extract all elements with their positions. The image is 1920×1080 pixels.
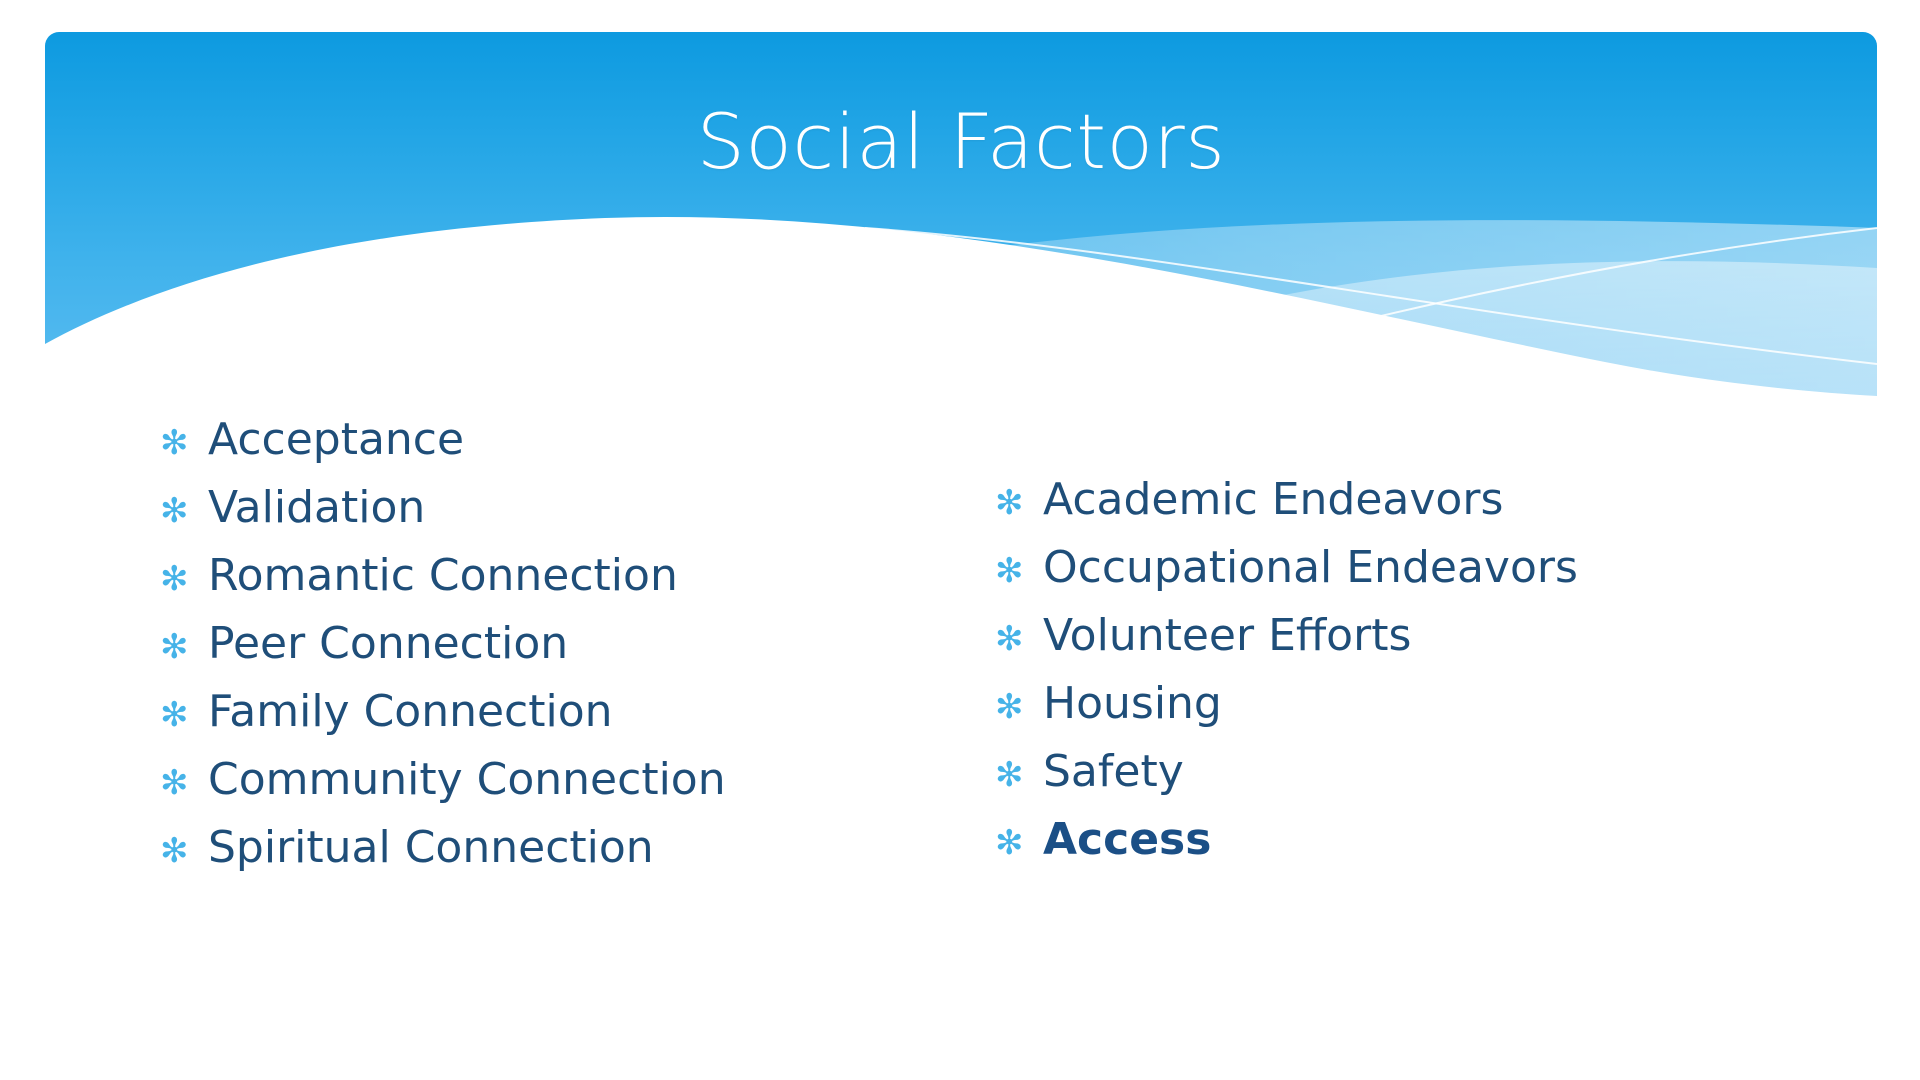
- list-item-label: Spiritual Connection: [208, 826, 654, 870]
- bullet-list-left: ✻ Acceptance ✻ Validation ✻ Romantic Con…: [160, 418, 726, 894]
- list-item-label: Romantic Connection: [208, 554, 678, 598]
- list-item-label: Occupational Endeavors: [1043, 546, 1578, 590]
- list-item-label: Community Connection: [208, 758, 726, 802]
- asterisk-bullet-icon: ✻: [160, 494, 208, 528]
- list-item-label: Validation: [208, 486, 425, 530]
- list-item[interactable]: ✻ Validation: [160, 486, 726, 554]
- list-item[interactable]: ✻ Safety: [995, 750, 1578, 818]
- asterisk-bullet-icon: ✻: [160, 766, 208, 800]
- asterisk-bullet-icon: ✻: [995, 690, 1043, 724]
- list-item-label: Volunteer Efforts: [1043, 614, 1411, 658]
- list-item[interactable]: ✻ Community Connection: [160, 758, 726, 826]
- list-item[interactable]: ✻ Housing: [995, 682, 1578, 750]
- list-item[interactable]: ✻ Volunteer Efforts: [995, 614, 1578, 682]
- list-item[interactable]: ✻ Family Connection: [160, 690, 726, 758]
- banner-wave-decoration: [45, 32, 1877, 397]
- asterisk-bullet-icon: ✻: [995, 826, 1043, 860]
- list-item[interactable]: ✻ Acceptance: [160, 418, 726, 486]
- list-item[interactable]: ✻ Access: [995, 818, 1578, 886]
- list-item[interactable]: ✻ Academic Endeavors: [995, 478, 1578, 546]
- title-banner: Social Factors: [45, 32, 1877, 397]
- list-item[interactable]: ✻ Spiritual Connection: [160, 826, 726, 894]
- list-item-label: Academic Endeavors: [1043, 478, 1503, 522]
- asterisk-bullet-icon: ✻: [160, 834, 208, 868]
- asterisk-bullet-icon: ✻: [160, 562, 208, 596]
- list-item-label: Peer Connection: [208, 622, 568, 666]
- slide-canvas: Social Factors ✻ Acceptance ✻ Validation…: [0, 0, 1920, 1080]
- list-item[interactable]: ✻ Peer Connection: [160, 622, 726, 690]
- asterisk-bullet-icon: ✻: [995, 622, 1043, 656]
- list-item-label: Housing: [1043, 682, 1222, 726]
- list-item[interactable]: ✻ Occupational Endeavors: [995, 546, 1578, 614]
- asterisk-bullet-icon: ✻: [160, 630, 208, 664]
- page-title: Social Factors: [45, 104, 1877, 180]
- list-item-label: Family Connection: [208, 690, 613, 734]
- list-item-label: Access: [1043, 818, 1211, 862]
- asterisk-bullet-icon: ✻: [995, 758, 1043, 792]
- list-item-label: Acceptance: [208, 418, 464, 462]
- bullet-list-right: ✻ Academic Endeavors ✻ Occupational Ende…: [995, 478, 1578, 886]
- asterisk-bullet-icon: ✻: [995, 486, 1043, 520]
- list-item-label: Safety: [1043, 750, 1184, 794]
- list-item[interactable]: ✻ Romantic Connection: [160, 554, 726, 622]
- asterisk-bullet-icon: ✻: [160, 698, 208, 732]
- asterisk-bullet-icon: ✻: [160, 426, 208, 460]
- asterisk-bullet-icon: ✻: [995, 554, 1043, 588]
